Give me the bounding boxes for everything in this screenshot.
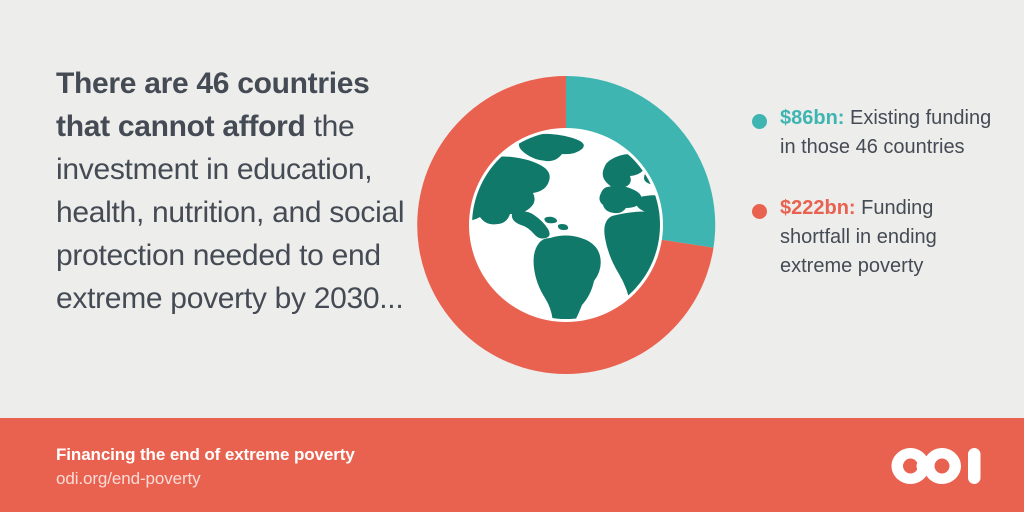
footer-text-block: Financing the end of extreme poverty odi… [56, 443, 355, 491]
chart-legend: $86bn: Existing funding in those 46 coun… [752, 104, 1002, 281]
legend-value-shortfall: $222bn: [780, 197, 856, 219]
legend-value-existing: $86bn: [780, 107, 844, 129]
footer-url[interactable]: odi.org/end-poverty [56, 467, 355, 491]
headline-statement: There are 46 countries that cannot affor… [56, 62, 416, 320]
donut-chart [416, 75, 716, 375]
legend-bullet-teal [752, 114, 767, 129]
footer-bar: Financing the end of extreme poverty odi… [0, 418, 1024, 512]
footer-title: Financing the end of extreme poverty [56, 443, 355, 467]
legend-item-funding-shortfall: $222bn: Funding shortfall in ending extr… [752, 194, 1002, 281]
legend-bullet-coral [752, 204, 767, 219]
odi-logo[interactable] [890, 445, 982, 487]
legend-item-existing-funding: $86bn: Existing funding in those 46 coun… [752, 104, 1002, 162]
